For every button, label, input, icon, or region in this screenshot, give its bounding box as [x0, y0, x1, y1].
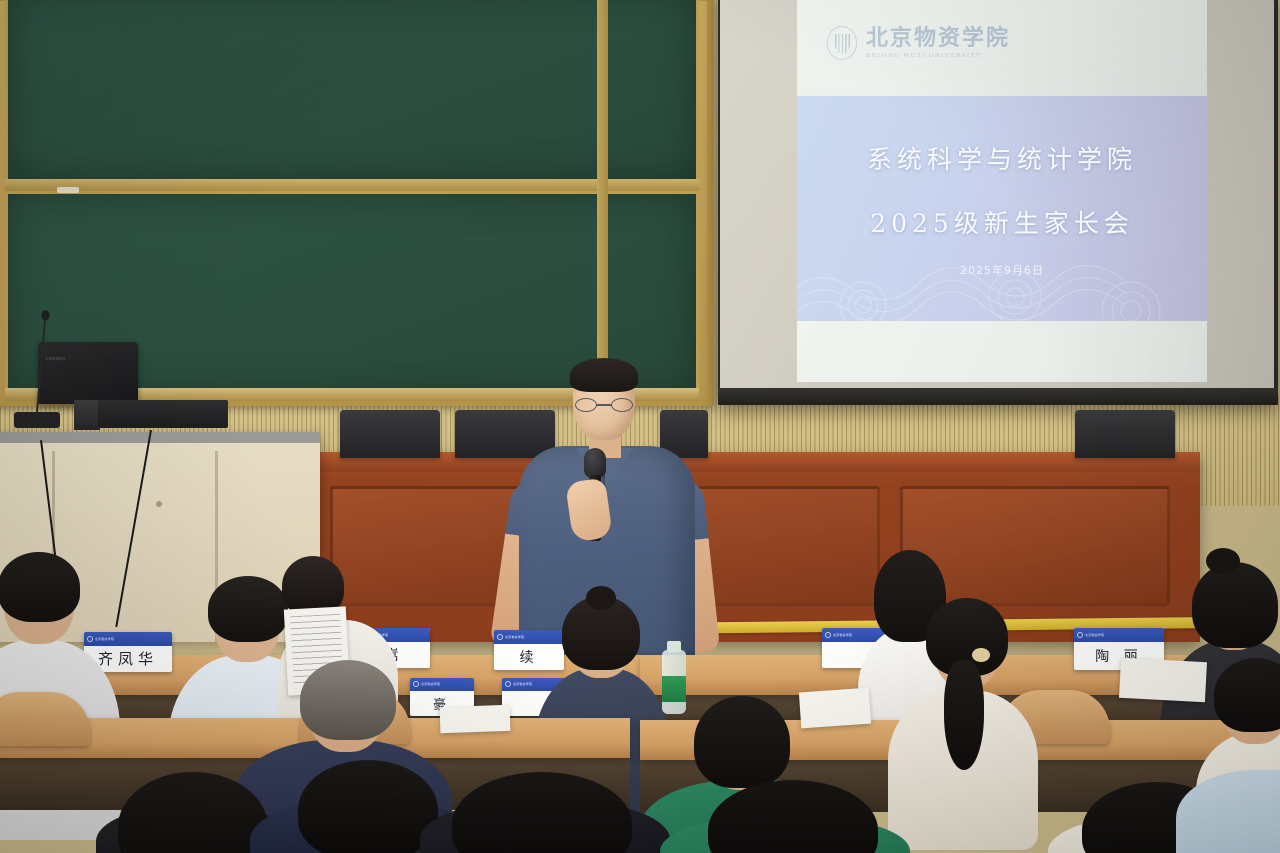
attendee-hair [0, 552, 80, 622]
bottle-cap [667, 641, 681, 652]
slide-date: 2025年9月6日 [797, 262, 1207, 278]
attendee-hair-bun [1206, 548, 1240, 574]
stage-chair-back [455, 410, 555, 458]
chalk-piece-2 [57, 187, 79, 193]
nameplate-band: 北京物资学院 [1074, 628, 1164, 642]
nameplate-band: 北京物资学院 [410, 678, 474, 691]
attendee-hair [694, 696, 790, 788]
stage-chair-back [340, 410, 440, 458]
nameplate-org: 北京物资学院 [505, 635, 524, 639]
attendee-hair [300, 660, 396, 740]
nameplate-band: 北京物资学院 [494, 630, 564, 644]
nameplate-org: 北京物资学院 [95, 637, 114, 641]
microphone-head [584, 448, 606, 478]
nameplate-org: 北京物资学院 [513, 682, 532, 686]
desk-paper [799, 688, 871, 729]
blackboard-vertical-divider [597, 0, 608, 397]
nameplate-name: 续 [494, 644, 564, 670]
lenovo-monitor: Lenovo [38, 342, 138, 404]
eyeglasses-icon [575, 398, 633, 412]
attendee-hair-bun [586, 586, 616, 610]
nameplate-logo-icon [1077, 632, 1083, 638]
hair-tie [972, 648, 990, 662]
nameplate-org: 北京物资学院 [421, 682, 440, 686]
nameplate-org: 北京物资学院 [1085, 633, 1104, 637]
monitor-stand [74, 400, 100, 430]
blackboard-middle-rail [5, 179, 699, 191]
microphone-base [14, 412, 60, 428]
university-logo-icon [827, 26, 857, 60]
desk-paper [1119, 658, 1207, 702]
presenter-hair [570, 358, 638, 392]
nameplate-logo-icon [413, 681, 419, 687]
slide-title-line-1: 系统科学与统计学院 [797, 140, 1207, 176]
attendee-ponytail [944, 660, 984, 770]
slide-title-line-2: 2025级新生家长会 [797, 204, 1207, 240]
university-name-en: BEIJING WUZI UNIVERSITY [866, 52, 1010, 59]
attendee-hair [298, 760, 438, 853]
keyboard-tray [98, 400, 228, 428]
attendee-hair [1192, 562, 1278, 648]
nameplate-logo-icon [505, 681, 511, 687]
slide-footer [797, 321, 1207, 382]
podium-knob [156, 501, 162, 507]
desk-paper [440, 705, 511, 733]
stage-chair-back [1075, 410, 1175, 458]
attendee-hair [208, 576, 288, 642]
projection-screen: 北京物资学院 BEIJING WUZI UNIVERSITY [718, 0, 1278, 405]
nameplate-logo-icon [497, 634, 503, 640]
screen-surface: 北京物资学院 BEIJING WUZI UNIVERSITY [720, 0, 1274, 390]
blackboard-pane-upper [5, 0, 699, 183]
water-bottle [662, 650, 686, 714]
nameplate: 北京物资学院 续 [494, 630, 564, 670]
presentation-slide: 北京物资学院 BEIJING WUZI UNIVERSITY [797, 0, 1207, 382]
university-name-cn: 北京物资学院 [866, 27, 1010, 49]
nameplate-band: 北京物资学院 [84, 632, 172, 646]
stage-front-desk [300, 452, 1200, 642]
nameplate-logo-icon [825, 632, 831, 638]
monitor-brand-label: Lenovo [46, 356, 65, 362]
slide-body: 系统科学与统计学院 2025级新生家长会 2025年9月6日 [797, 96, 1207, 321]
nameplate-org: 北京物资学院 [833, 633, 852, 637]
nameplate-logo-icon [87, 636, 93, 642]
lecture-hall-scene: 北京物资学院 BEIJING WUZI UNIVERSITY [0, 0, 1280, 853]
slide-header: 北京物资学院 BEIJING WUZI UNIVERSITY [797, 0, 1207, 96]
bottle-label [662, 676, 686, 702]
screen-bottom-bar [718, 388, 1278, 405]
